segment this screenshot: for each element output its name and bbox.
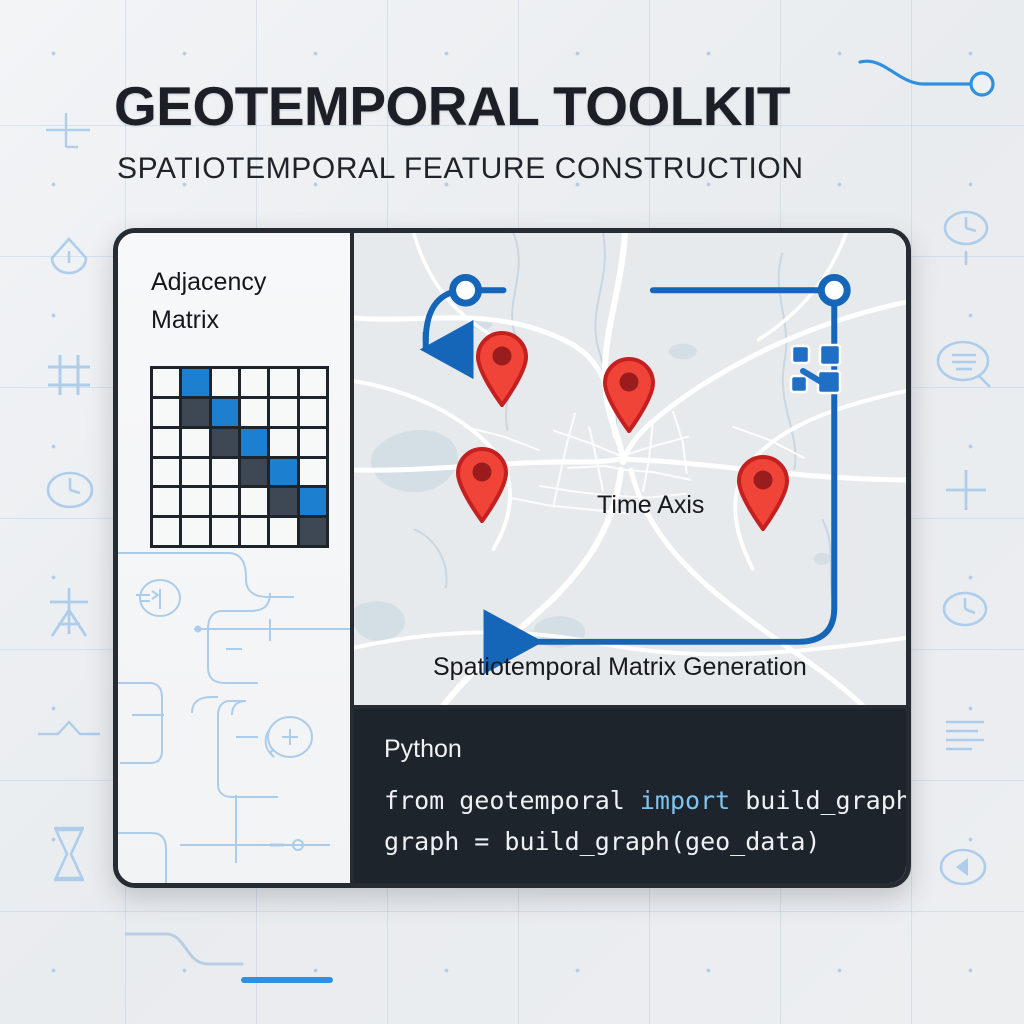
matrix-cell-3-1 (182, 459, 208, 486)
page-title: GEOTEMPORAL TOOLKIT (114, 74, 790, 138)
code-block: Python from geotemporal import build_gra… (354, 705, 906, 883)
decorative-connector-bottom-left (124, 920, 334, 1000)
matrix-cell-2-1 (182, 429, 208, 456)
matrix-cell-2-5 (300, 429, 326, 456)
map-caption: Spatiotemporal Matrix Generation (433, 653, 807, 682)
matrix-cell-0-2 (212, 369, 238, 396)
sidebar: Adjacency Matrix (118, 233, 354, 883)
matrix-cell-4-0 (153, 488, 179, 515)
hourglass-icon (40, 818, 98, 890)
matrix-cell-1-1 (182, 399, 208, 426)
sidebar-title-line1: Adjacency (151, 263, 331, 301)
decorative-connector-top-right (852, 38, 1012, 98)
matrix-cell-4-4 (270, 488, 296, 515)
matrix-cell-0-4 (270, 369, 296, 396)
matrix-cell-3-5 (300, 459, 326, 486)
matrix-cell-3-0 (153, 459, 179, 486)
matrix-cell-0-3 (241, 369, 267, 396)
sidebar-title-line2: Matrix (151, 301, 331, 339)
water-drop-icon (38, 225, 100, 287)
code-line-1: from geotemporal import build_graph (384, 780, 906, 821)
antenna-icon (38, 580, 100, 644)
code-line-1-pre: from geotemporal (384, 786, 640, 815)
matrix-cell-1-3 (241, 399, 267, 426)
matrix-cell-4-2 (212, 488, 238, 515)
wave-icon (34, 712, 104, 746)
matrix-cell-2-4 (270, 429, 296, 456)
matrix-cell-3-3 (241, 459, 267, 486)
matrix-cell-3-4 (270, 459, 296, 486)
clock-icon (38, 462, 102, 518)
matrix-cell-3-2 (212, 459, 238, 486)
adjacency-matrix (150, 366, 329, 548)
matrix-cell-4-5 (300, 488, 326, 515)
sidebar-title: Adjacency Matrix (151, 263, 331, 339)
sidebar-circuit-decoration (118, 533, 354, 883)
matrix-cell-0-0 (153, 369, 179, 396)
code-language-label: Python (384, 735, 906, 764)
ruler-icon (38, 105, 98, 157)
map-column: Time Axis Spatiotemporal Matrix Generati… (354, 233, 906, 883)
code-keyword-import: import (640, 786, 730, 815)
page-subtitle: SPATIOTEMPORAL FEATURE CONSTRUCTION (117, 152, 804, 186)
list-lines-icon (934, 712, 996, 758)
matrix-cell-0-1 (182, 369, 208, 396)
matrix-cell-1-4 (270, 399, 296, 426)
clock-icon (935, 205, 997, 275)
code-line-1-post: build_graph (730, 786, 911, 815)
matrix-cell-2-2 (212, 429, 238, 456)
plus-icon (938, 462, 994, 518)
poster-root: GEOTEMPORAL TOOLKIT SPATIOTEMPORAL FEATU… (0, 0, 1024, 1024)
matrix-cell-4-1 (182, 488, 208, 515)
search-chat-icon (930, 335, 1000, 395)
map-canvas[interactable]: Time Axis Spatiotemporal Matrix Generati… (354, 233, 906, 705)
grid-hash-icon (38, 345, 100, 405)
matrix-cell-4-3 (241, 488, 267, 515)
matrix-cell-1-5 (300, 399, 326, 426)
matrix-cell-2-3 (241, 429, 267, 456)
matrix-cell-2-0 (153, 429, 179, 456)
code-line-2: graph = build_graph(geo_data) (384, 821, 906, 862)
back-arrow-icon (932, 840, 994, 894)
time-axis-label: Time Axis (597, 491, 704, 520)
matrix-cell-1-2 (212, 399, 238, 426)
time-flow-overlay (354, 233, 906, 705)
clock-icon (934, 582, 996, 636)
matrix-cell-0-5 (300, 369, 326, 396)
matrix-cell-1-0 (153, 399, 179, 426)
main-panel: Adjacency Matrix (113, 228, 911, 888)
